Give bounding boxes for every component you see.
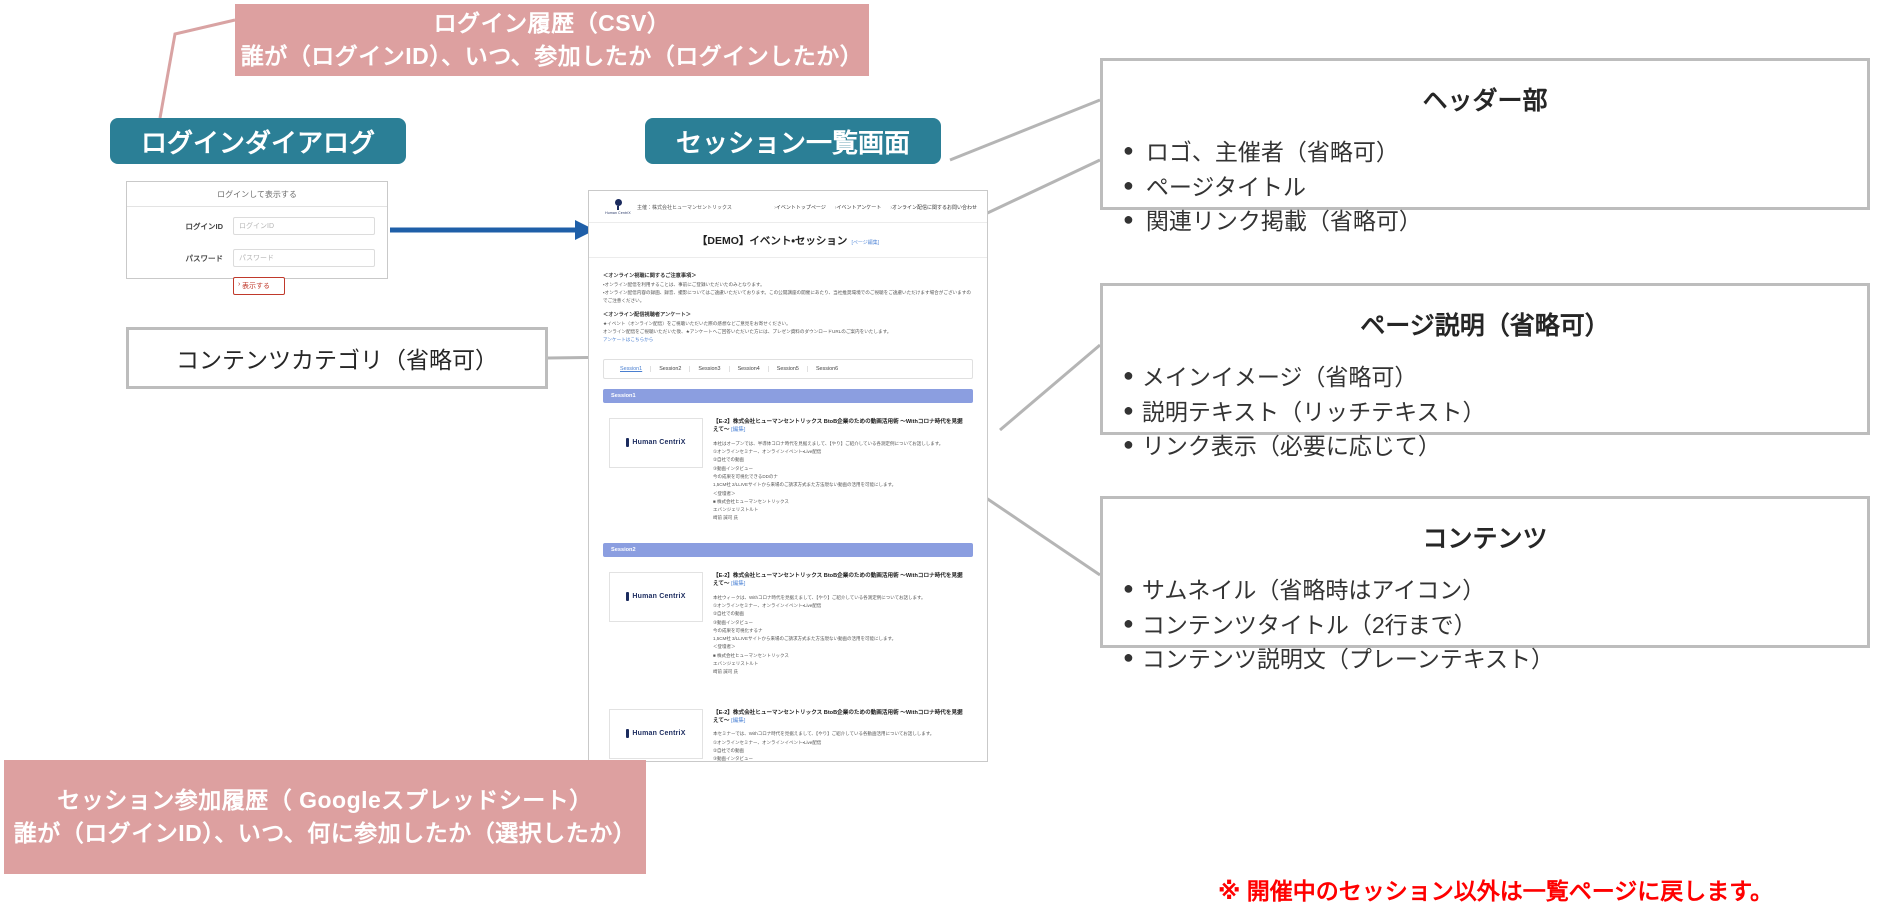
desc-line: 崎前 誠司 氏 — [713, 668, 967, 676]
desc-line: ■ 株式会社ヒューマンセントリックス — [713, 652, 967, 660]
session-list-pill: セッション一覧画面 — [645, 118, 941, 164]
nav-item-1[interactable]: イベントアンケート — [835, 204, 881, 211]
bullet-icon: ● — [1123, 204, 1134, 236]
login-id-input[interactable]: ログインID — [233, 217, 375, 235]
session-bar: Session1 — [603, 389, 973, 403]
page-title: 【DEMO】イベント・セッション[ページ編集] — [589, 223, 987, 258]
session-edit-link[interactable]: [編集] — [731, 718, 745, 724]
login-dialog-pill: ログインダイアログ — [110, 118, 406, 164]
session-history-line1: セッション参加履歴（ Googleスプレッドシート） — [57, 784, 593, 817]
login-dialog-pill-label: ログインダイアログ — [141, 123, 375, 160]
page-desc-note-item: ●説明テキスト（リッチテキスト） — [1123, 395, 1847, 430]
session-history-line2: 誰が（ログインID）、いつ、何に参加したか（選択したか） — [14, 817, 637, 850]
desc-line: ＜登壇者＞ — [713, 490, 967, 498]
session-tabs[interactable]: Session1 Session2 Session3 Session4 Sess… — [603, 359, 973, 379]
session-list-page-mock: Human CentriX 主催：株式会社ヒューマンセントリックス イベントトッ… — [588, 190, 988, 762]
desc-line: ③動画インタビュー — [713, 755, 967, 762]
contents-note-title: コンテンツ — [1123, 519, 1847, 555]
tab-session1[interactable]: Session1 — [612, 366, 651, 372]
desc-heading-1: ＜オンライン視聴に関するご注意事項＞ — [603, 272, 973, 279]
desc-line: ①オンラインセミナー、オンラインイベント・Live配信 — [713, 448, 967, 456]
tab-session5[interactable]: Session5 — [769, 366, 808, 372]
desc-line: 本社はオープンでは、半導体コロナ時代を見据えまして、【やり】ご紹介している各測定… — [713, 440, 967, 448]
flow-arrow — [390, 216, 595, 244]
login-dialog-mock: ログインして表示する ログインID ログインID パスワード パスワード 表示す… — [126, 181, 388, 279]
desc-line: ③動画インタビュー — [713, 619, 967, 627]
session-thumbnail: Human CentriX — [609, 709, 703, 759]
login-history-line1: ログイン履歴（CSV） — [434, 7, 671, 40]
login-history-line2: 誰が（ログインID）、いつ、参加したか（ログインしたか） — [241, 40, 864, 73]
session-title: 【E-2】株式会社ヒューマンセントリックス BtoB企業のための動画活用術 ～W… — [713, 572, 967, 589]
nav-item-0[interactable]: イベントトップページ — [774, 204, 826, 211]
header-note-box: ヘッダー部 ●ロゴ、主催者（省略可） ●ページタイトル ●関連リンク掲載（省略可… — [1100, 58, 1870, 210]
bullet-icon: ● — [1123, 170, 1134, 202]
session-card[interactable]: Human CentriX 【E-2】株式会社ヒューマンセントリックス BtoB… — [603, 701, 973, 762]
bullet-icon: ● — [1123, 642, 1134, 674]
session-list-pill-label: セッション一覧画面 — [676, 123, 910, 160]
session-history-callout: セッション参加履歴（ Googleスプレッドシート） 誰が（ログインID）、いつ… — [4, 760, 646, 874]
session-body: 【E-2】株式会社ヒューマンセントリックス BtoB企業のための動画活用術 ～W… — [713, 572, 967, 677]
contents-note-item: ●コンテンツタイトル（2行まで） — [1123, 608, 1847, 643]
tab-session3[interactable]: Session3 — [690, 366, 729, 372]
host-label: 主催：株式会社ヒューマンセントリックス — [637, 204, 732, 211]
desc-line: ①オンラインセミナー、オンラインイベント・Live配信 — [713, 739, 967, 747]
survey-link[interactable]: アンケートはこちらから — [603, 336, 973, 345]
session-title: 【E-2】株式会社ヒューマンセントリックス BtoB企業のための動画活用術 ～W… — [713, 418, 967, 435]
session-card[interactable]: Human CentriX 【E-2】株式会社ヒューマンセントリックス BtoB… — [603, 564, 973, 687]
bullet-icon: ● — [1123, 135, 1134, 167]
contents-note-list: ●サムネイル（省略時はアイコン） ●コンテンツタイトル（2行まで） ●コンテンツ… — [1123, 573, 1847, 677]
desc-line: 今の成果を可視化できるDDのナ — [713, 473, 967, 481]
session-title-text: 【E-2】株式会社ヒューマンセントリックス BtoB企業のための動画活用術 ～W… — [713, 573, 963, 587]
desc-line: 本社ウィークは、Withコロナ時代を見据えまして、【やり】ご紹介している各測定例… — [713, 594, 967, 602]
session-title-text: 【E-2】株式会社ヒューマンセントリックス BtoB企業のための動画活用術 ～W… — [713, 419, 963, 433]
desc-line: 今の成果を可視化するナ — [713, 627, 967, 635]
session-description: 本セミナーでは、Withコロナ時代を見据えまして、【やり】ご紹介している各動画活… — [713, 730, 967, 762]
bullet-icon: ● — [1123, 395, 1134, 427]
bullet-icon: ● — [1123, 573, 1134, 605]
session-body: 【E-2】株式会社ヒューマンセントリックス BtoB企業のための動画活用術 ～W… — [713, 709, 967, 762]
tab-session6[interactable]: Session6 — [808, 366, 846, 372]
bullet-icon: ● — [1123, 360, 1134, 392]
session-description: 本社ウィークは、Withコロナ時代を見据えまして、【やり】ご紹介している各測定例… — [713, 594, 967, 677]
desc-line: 本セミナーでは、Withコロナ時代を見据えまして、【やり】ご紹介している各動画活… — [713, 730, 967, 738]
content-category-label: コンテンツカテゴリ（省略可） — [176, 341, 498, 375]
contents-note-item: ●サムネイル（省略時はアイコン） — [1123, 573, 1847, 608]
desc-line: ③動画インタビュー — [713, 465, 967, 473]
logo-name: Human CentriX — [605, 211, 631, 215]
desc-text-3: ★イベント（オンライン配信）をご視聴いただいた際の感想などご意見をお寄せください… — [603, 320, 973, 328]
page-desc-note-title: ページ説明（省略可） — [1123, 306, 1847, 342]
bullet-icon: ● — [1123, 608, 1134, 640]
desc-text-2: ・オンライン配信内容の録画、録音、撮影についてはご遠慮いただいております。この公… — [603, 289, 973, 305]
red-note: ※ 開催中のセッション以外は一覧ページに戻します。 — [1218, 872, 1773, 906]
desc-line: 1,5CM社 3/LLIVEサイトから来場のご請求方式また方法現ない動画の活用を… — [713, 635, 967, 643]
tab-session4[interactable]: Session4 — [730, 366, 769, 372]
page-title-text: 【DEMO】イベント・セッション — [697, 235, 848, 247]
header-note-list: ●ロゴ、主催者（省略可） ●ページタイトル ●関連リンク掲載（省略可） — [1123, 135, 1847, 239]
header-note-item: ●関連リンク掲載（省略可） — [1123, 204, 1847, 239]
header-note-title: ヘッダー部 — [1123, 81, 1847, 117]
desc-line: ②自社での動画 — [713, 610, 967, 618]
desc-line: エバンジェリストルト — [713, 660, 967, 668]
login-dialog-heading: ログインして表示する — [127, 182, 387, 207]
desc-line: ②自社での動画 — [713, 747, 967, 755]
desc-text-4: オンライン配信をご視聴いただいた後、★アンケートへご回答いただいた方には、プレゼ… — [603, 328, 973, 336]
thumbnail-logo-label: Human CentriX — [632, 439, 685, 446]
login-submit-row: 表示する — [127, 271, 387, 304]
header-note-item: ●ロゴ、主催者（省略可） — [1123, 135, 1847, 170]
thumbnail-logo-label: Human CentriX — [632, 593, 685, 600]
bullet-icon: ● — [1123, 429, 1134, 461]
logo-icon: Human CentriX — [601, 199, 635, 215]
page-title-edit-link[interactable]: [ページ編集] — [851, 240, 879, 246]
header-nav[interactable]: イベントトップページ イベントアンケート オンライン配信に関するお問い合わせ — [774, 204, 977, 211]
page-description: ＜オンライン視聴に関するご注意事項＞ ・オンライン配信を利用することは、事前にご… — [589, 258, 987, 351]
page-desc-note-box: ページ説明（省略可） ●メインイメージ（省略可） ●説明テキスト（リッチテキスト… — [1100, 283, 1870, 435]
content-category-box: コンテンツカテゴリ（省略可） — [126, 327, 548, 389]
desc-line: エバンジェリストルト — [713, 506, 967, 514]
session-thumbnail: Human CentriX — [609, 572, 703, 622]
password-label: パスワード — [127, 253, 233, 264]
session-edit-link[interactable]: [編集] — [731, 427, 745, 433]
nav-item-2[interactable]: オンライン配信に関するお問い合わせ — [890, 204, 977, 211]
session-bar: Session2 — [603, 543, 973, 557]
login-submit-button[interactable]: 表示する — [233, 277, 285, 295]
desc-line: 1,5CM社 2/LLIVEサイトから来場のご請求方式また方法現ない動画の活用を… — [713, 481, 967, 489]
login-id-row: ログインID ログインID — [127, 213, 387, 239]
session-title: 【E-2】株式会社ヒューマンセントリックス BtoB企業のための動画活用術 ～W… — [713, 709, 967, 726]
page-header: Human CentriX 主催：株式会社ヒューマンセントリックス イベントトッ… — [589, 191, 987, 223]
desc-heading-2: ＜オンライン配信視聴者アンケート＞ — [603, 311, 973, 318]
session-description: 本社はオープンでは、半導体コロナ時代を見据えまして、【やり】ご紹介している各測定… — [713, 440, 967, 523]
desc-line: ■ 株式会社ヒューマンセントリックス — [713, 498, 967, 506]
tab-session2[interactable]: Session2 — [651, 366, 690, 372]
password-row: パスワード パスワード — [127, 245, 387, 271]
desc-text-1: ・オンライン配信を利用することは、事前にご登録いただいたのみとなります。 — [603, 281, 973, 289]
page-desc-note-item: ●リンク表示（必要に応じて） — [1123, 429, 1847, 464]
session-title-text: 【E-2】株式会社ヒューマンセントリックス BtoB企業のための動画活用術 ～W… — [713, 710, 963, 724]
login-history-callout: ログイン履歴（CSV） 誰が（ログインID）、いつ、参加したか（ログインしたか） — [235, 4, 869, 76]
desc-line: ②自社での動画 — [713, 456, 967, 464]
desc-line: ＜登壇者＞ — [713, 643, 967, 651]
session-body: 【E-2】株式会社ヒューマンセントリックス BtoB企業のための動画活用術 ～W… — [713, 418, 967, 523]
contents-note-item: ●コンテンツ説明文（プレーンテキスト） — [1123, 642, 1847, 677]
session-card[interactable]: Human CentriX 【E-2】株式会社ヒューマンセントリックス BtoB… — [603, 410, 973, 533]
password-input[interactable]: パスワード — [233, 249, 375, 267]
page-desc-note-item: ●メインイメージ（省略可） — [1123, 360, 1847, 395]
desc-line: 崎前 誠司 氏 — [713, 514, 967, 522]
session-thumbnail: Human CentriX — [609, 418, 703, 468]
desc-line: ①オンラインセミナー、オンラインイベント・Live配信 — [713, 602, 967, 610]
contents-note-box: コンテンツ ●サムネイル（省略時はアイコン） ●コンテンツタイトル（2行まで） … — [1100, 496, 1870, 648]
header-note-item: ●ページタイトル — [1123, 170, 1847, 205]
thumbnail-logo-label: Human CentriX — [632, 730, 685, 737]
session-edit-link[interactable]: [編集] — [731, 581, 745, 587]
page-desc-note-list: ●メインイメージ（省略可） ●説明テキスト（リッチテキスト） ●リンク表示（必要… — [1123, 360, 1847, 464]
login-id-label: ログインID — [127, 221, 233, 232]
